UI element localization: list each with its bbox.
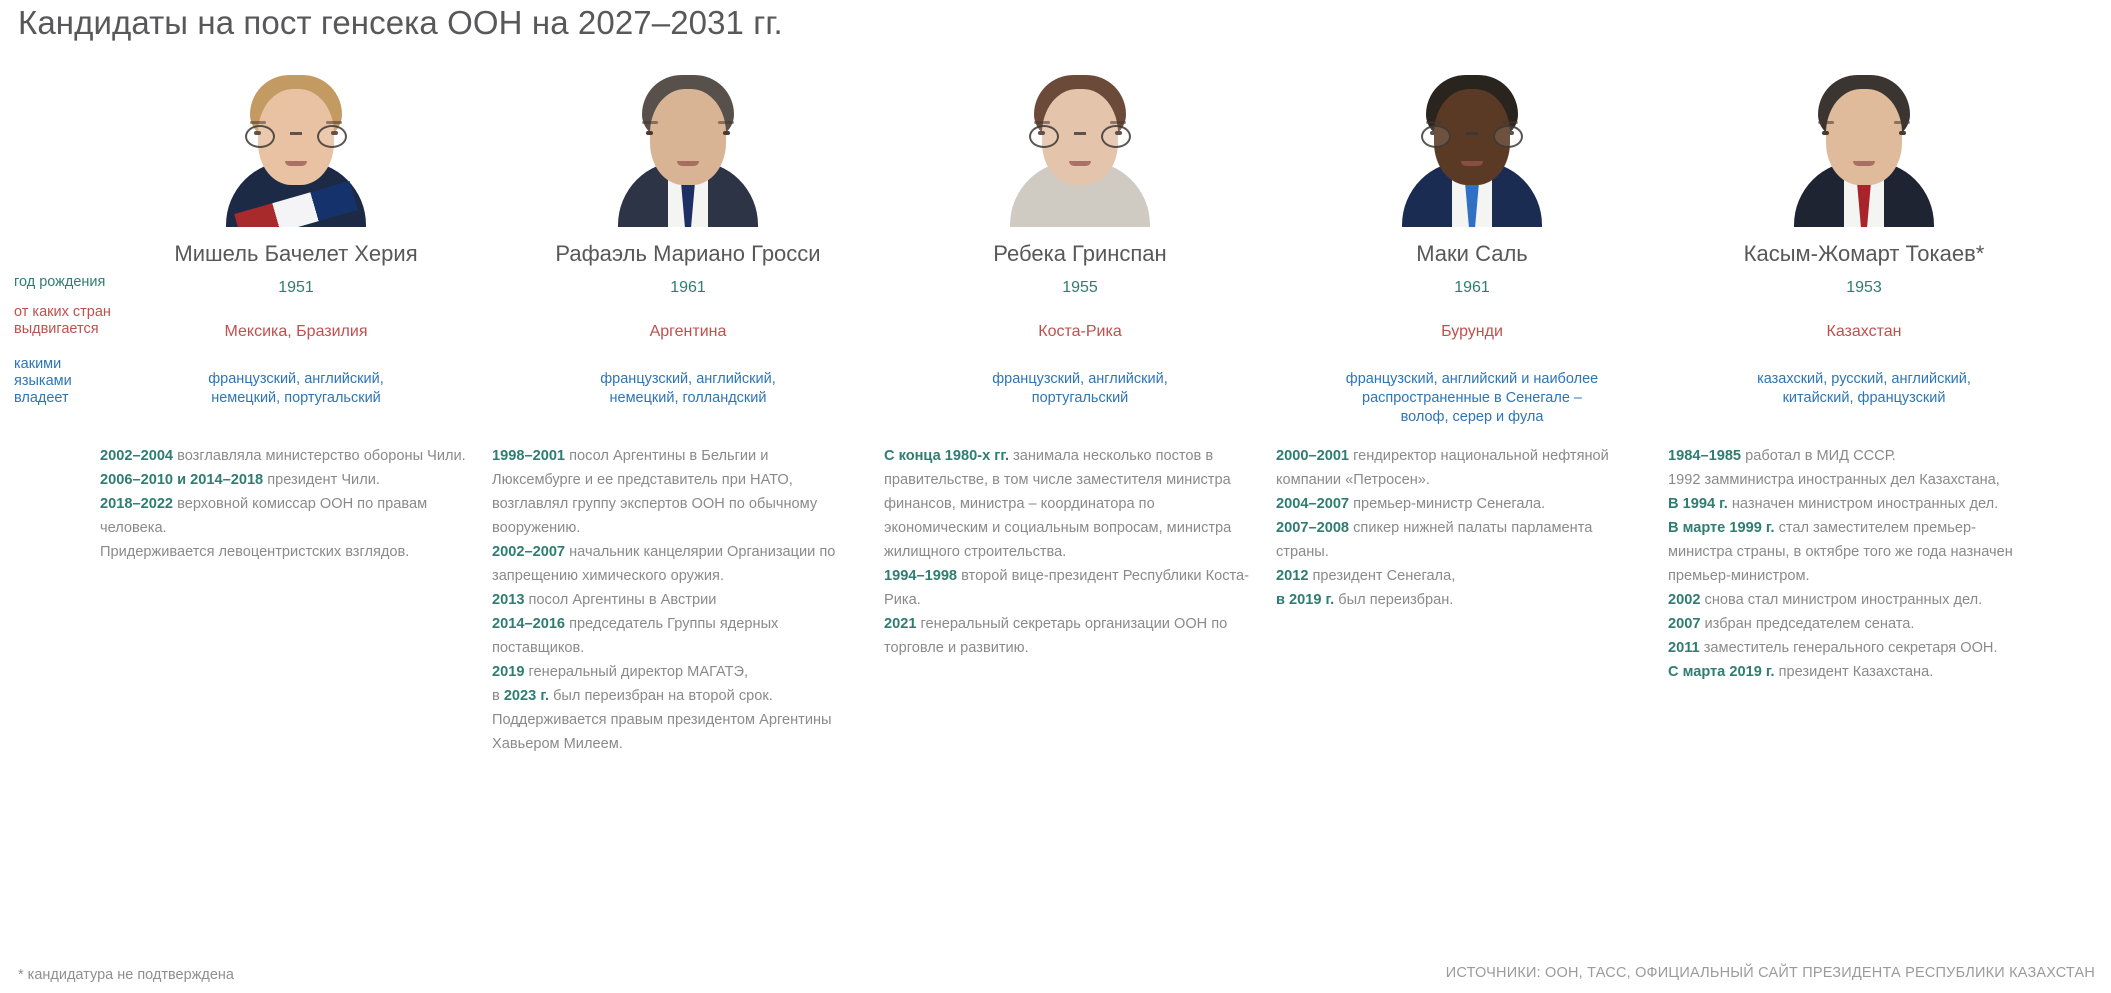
mouth-shape	[1461, 161, 1483, 166]
biography-date: 1998–2001	[492, 448, 565, 464]
candidate-nominating-countries: Коста-Рика	[884, 323, 1276, 343]
row-label-birth-year: год рождения	[14, 274, 105, 291]
biography-date: 2002–2007	[492, 544, 565, 560]
sources-line: ИСТОЧНИКИ: ООН, ТАСС, ОФИЦИАЛЬНЫЙ САЙТ П…	[1446, 965, 2095, 981]
biography-entry: 2018–2022 верховной комиссар ООН по прав…	[100, 492, 466, 540]
candidate-photo	[1793, 59, 1935, 227]
biography-entry: 2007 избран председателем сената.	[1668, 612, 2034, 636]
candidate-photo-wrap	[884, 52, 1276, 227]
biography-date: С марта 2019 г.	[1668, 664, 1775, 680]
biography-entry: В марте 1999 г. стал заместителем премье…	[1668, 516, 2034, 588]
biography-entry: 1994–1998 второй вице-президент Республи…	[884, 564, 1250, 612]
biography-entry: 2004–2007 премьер-министр Сенегала.	[1276, 492, 1642, 516]
biography-entry: 2012 президент Сенегала,	[1276, 564, 1642, 588]
browR-shape	[1110, 121, 1126, 124]
biography-text: снова стал министром иностранных дел.	[1700, 592, 1982, 608]
biography-entry: 2014–2016 председатель Группы ядерных по…	[492, 612, 858, 660]
browL-shape	[1034, 121, 1050, 124]
biography-entry: 2021 генеральный секретарь организации О…	[884, 612, 1250, 660]
biography-date: 2002–2004	[100, 448, 173, 464]
biography-entry: 1998–2001 посол Аргентины в Бельгии и Лю…	[492, 444, 858, 540]
biography-entry: 2019 генеральный директор МАГАТЭ,	[492, 660, 858, 684]
biography-date: 2019	[492, 664, 524, 680]
biography-text: генеральный секретарь организации ООН по…	[884, 616, 1227, 656]
biography-entry: 1984–1985 работал в МИД СССР.	[1668, 444, 2034, 468]
biography-date: 2000–2001	[1276, 448, 1349, 464]
candidate-photo-wrap	[1668, 52, 2060, 227]
candidate-photo	[1009, 59, 1151, 227]
candidate-column: Ребека Гринспан1955Коста-Рикафранцузский…	[884, 52, 1276, 756]
biography-entry: 2002 снова стал министром иностранных де…	[1668, 588, 2034, 612]
candidate-name: Рафаэль Мариано Гросси	[492, 241, 884, 267]
candidate-languages: французский, английский,португальский	[884, 370, 1276, 430]
candidate-photo	[617, 59, 759, 227]
glassR-shape	[1493, 125, 1523, 148]
bridge-shape	[290, 132, 302, 135]
eyeR-shape	[723, 131, 730, 135]
biography-entry: 2013 посол Аргентины в Австрии	[492, 588, 858, 612]
browR-shape	[326, 121, 342, 124]
biography-date: В марте 1999 г.	[1668, 520, 1775, 536]
candidate-birth-year: 1961	[492, 279, 884, 299]
candidate-name: Касым-Жомарт Токаев*	[1668, 241, 2060, 267]
biography-date: 1994–1998	[884, 568, 957, 584]
biography-entry: Поддерживается правым президентом Аргент…	[492, 708, 858, 756]
biography-text: в	[492, 688, 504, 704]
candidate-languages: французский, английский,немецкий, голлан…	[492, 370, 884, 430]
biography-text: президент Казахстана.	[1775, 664, 1934, 680]
biography-entry: 2002–2004 возглавляла министерство оборо…	[100, 444, 466, 468]
candidate-photo	[1401, 59, 1543, 227]
eyeL-shape	[646, 131, 653, 135]
biography-text: Поддерживается правым президентом Аргент…	[492, 712, 832, 752]
glassR-shape	[317, 125, 347, 148]
eyeR-shape	[1899, 131, 1906, 135]
candidate-birth-year: 1953	[1668, 279, 2060, 299]
candidate-biography: С конца 1980-х гг. занимала несколько по…	[884, 444, 1276, 660]
biography-text: избран председателем сената.	[1700, 616, 1914, 632]
bridge-shape	[1074, 132, 1086, 135]
candidate-photo-wrap	[492, 52, 884, 227]
row-label-languages: какимиязыкамивладеет	[14, 356, 72, 407]
candidate-name: Маки Саль	[1276, 241, 1668, 267]
biography-text: возглавляла министерство обороны Чили.	[173, 448, 466, 464]
biography-entry: 2000–2001 гендиректор национальной нефтя…	[1276, 444, 1642, 492]
biography-entry: 2011 заместитель генерального секретаря …	[1668, 636, 2034, 660]
face-shape	[650, 89, 726, 185]
mouth-shape	[1069, 161, 1091, 166]
browL-shape	[642, 121, 658, 124]
biography-text: посол Аргентины в Австрии	[524, 592, 716, 608]
biography-date: 2014–2016	[492, 616, 565, 632]
biography-entry: 2002–2007 начальник канцелярии Организац…	[492, 540, 858, 588]
biography-entry: в 2019 г. был переизбран.	[1276, 588, 1642, 612]
row-label-countries: от каких странвыдвигается	[14, 304, 111, 338]
page-title: Кандидаты на пост генсека ООН на 2027–20…	[18, 4, 783, 42]
bridge-shape	[1466, 132, 1478, 135]
biography-date: 2002	[1668, 592, 1700, 608]
candidate-photo	[225, 59, 367, 227]
candidate-column: Рафаэль Мариано Гросси1961Аргентинафранц…	[492, 52, 884, 756]
candidate-nominating-countries: Казахстан	[1668, 323, 2060, 343]
candidate-column: Касым-Жомарт Токаев*1953Казахстанказахск…	[1668, 52, 2060, 756]
biography-date: 2011	[1668, 640, 1700, 656]
biography-text: был переизбран на второй срок.	[549, 688, 773, 704]
candidate-photo-wrap	[1276, 52, 1668, 227]
candidate-languages: казахский, русский, английский,китайский…	[1668, 370, 2060, 430]
mouth-shape	[1853, 161, 1875, 166]
candidate-languages: французский, английский и наиболеераспро…	[1276, 370, 1668, 430]
candidate-name: Мишель Бачелет Херия	[100, 241, 492, 267]
biography-text: заместитель генерального секретаря ООН.	[1700, 640, 1998, 656]
biography-entry: С марта 2019 г. президент Казахстана.	[1668, 660, 2034, 684]
browR-shape	[718, 121, 734, 124]
glassL-shape	[1029, 125, 1059, 148]
candidate-nominating-countries: Бурунди	[1276, 323, 1668, 343]
mouth-shape	[677, 161, 699, 166]
glassR-shape	[1101, 125, 1131, 148]
biography-date: 2004–2007	[1276, 496, 1349, 512]
candidate-biography: 1998–2001 посол Аргентины в Бельгии и Лю…	[492, 444, 884, 756]
candidate-column: Маки Саль1961Бурундифранцузский, английс…	[1276, 52, 1668, 756]
biography-text: президент Чили.	[263, 472, 380, 488]
biography-text: Придерживается левоцентристских взглядов…	[100, 544, 409, 560]
biography-text: работал в МИД СССР.	[1741, 448, 1896, 464]
biography-text: генеральный директор МАГАТЭ,	[524, 664, 748, 680]
biography-text: президент Сенегала,	[1308, 568, 1455, 584]
footnote: * кандидатура не подтверждена	[18, 967, 234, 983]
biography-date: 2013	[492, 592, 524, 608]
biography-date: 2007	[1668, 616, 1700, 632]
biography-date: 1984–1985	[1668, 448, 1741, 464]
biography-text: назначен министром иностранных дел.	[1728, 496, 1998, 512]
biography-date: 2023 г.	[504, 688, 549, 704]
biography-date: 2021	[884, 616, 916, 632]
browR-shape	[1894, 121, 1910, 124]
biography-text: премьер-министр Сенегала.	[1349, 496, 1545, 512]
biography-entry: Придерживается левоцентристских взглядов…	[100, 540, 466, 564]
biography-entry: 2007–2008 спикер нижней палаты парламент…	[1276, 516, 1642, 564]
candidate-biography: 2000–2001 гендиректор национальной нефтя…	[1276, 444, 1668, 612]
mouth-shape	[285, 161, 307, 166]
biography-date: 2007–2008	[1276, 520, 1349, 536]
face-shape	[1826, 89, 1902, 185]
biography-entry: В 1994 г. назначен министром иностранных…	[1668, 492, 2034, 516]
candidate-column: Мишель Бачелет Херия1951Мексика, Бразили…	[100, 52, 492, 756]
biography-entry: в 2023 г. был переизбран на второй срок.	[492, 684, 858, 708]
browL-shape	[250, 121, 266, 124]
candidate-birth-year: 1961	[1276, 279, 1668, 299]
browR-shape	[1502, 121, 1518, 124]
biography-date: 2006–2010 и 2014–2018	[100, 472, 263, 488]
biography-date: С конца 1980-х гг.	[884, 448, 1009, 464]
candidate-name: Ребека Гринспан	[884, 241, 1276, 267]
biography-text: 1992 замминистра иностранных дел Казахст…	[1668, 472, 2000, 488]
glassL-shape	[1421, 125, 1451, 148]
browL-shape	[1818, 121, 1834, 124]
biography-date: в 2019 г.	[1276, 592, 1334, 608]
biography-date: 2018–2022	[100, 496, 173, 512]
candidate-photo-wrap	[100, 52, 492, 227]
candidate-biography: 2002–2004 возглавляла министерство оборо…	[100, 444, 492, 564]
biography-text: занимала несколько постов в правительств…	[884, 448, 1231, 560]
biography-entry: С конца 1980-х гг. занимала несколько по…	[884, 444, 1250, 564]
biography-entry: 2006–2010 и 2014–2018 президент Чили.	[100, 468, 466, 492]
candidate-birth-year: 1951	[100, 279, 492, 299]
eyeL-shape	[1822, 131, 1829, 135]
glassL-shape	[245, 125, 275, 148]
candidate-biography: 1984–1985 работал в МИД СССР.1992 заммин…	[1668, 444, 2060, 684]
biography-date: 2012	[1276, 568, 1308, 584]
candidate-grid: Мишель Бачелет Херия1951Мексика, Бразили…	[100, 52, 2100, 756]
biography-text: был переизбран.	[1334, 592, 1453, 608]
candidate-languages: французский, английский,немецкий, португ…	[100, 370, 492, 430]
browL-shape	[1426, 121, 1442, 124]
candidate-nominating-countries: Аргентина	[492, 323, 884, 343]
candidate-birth-year: 1955	[884, 279, 1276, 299]
biography-date: В 1994 г.	[1668, 496, 1728, 512]
candidate-nominating-countries: Мексика, Бразилия	[100, 323, 492, 343]
biography-entry: 1992 замминистра иностранных дел Казахст…	[1668, 468, 2034, 492]
